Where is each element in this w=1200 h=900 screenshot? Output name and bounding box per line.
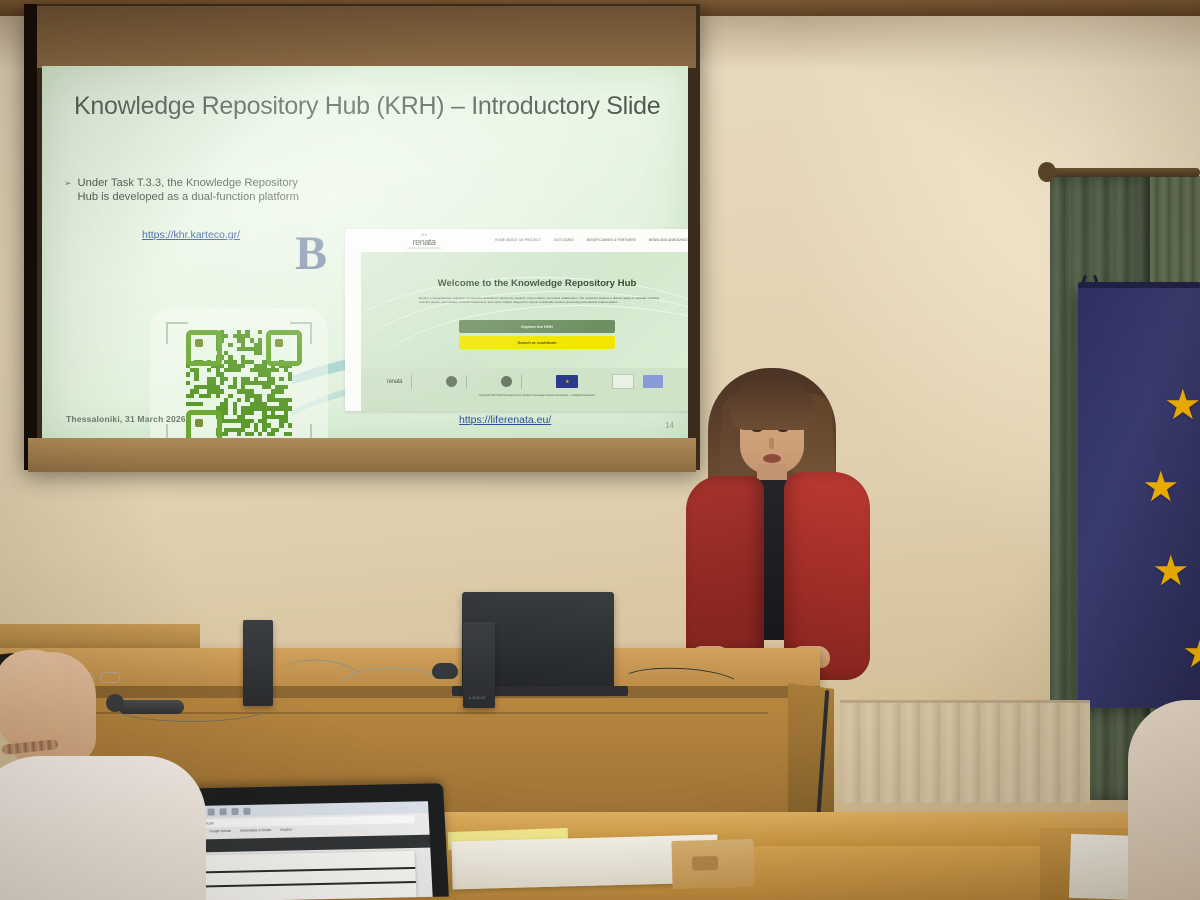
website-screenshot: life renata LIFE21-ENV-GR-RENATA HOME AB… [345,229,688,411]
qr-finder-top-right [266,330,302,366]
logo-name: renata [407,237,441,247]
curtain-rod-knob [1038,162,1056,182]
presenter-nose [769,438,774,449]
presentation-room-photo: Knowledge Repository Hub (KRH) – Introdu… [0,0,1200,900]
computer-mouse[interactable] [432,663,458,679]
slide-watermark-letter: B [295,226,327,281]
flag-star-1: ★ [1164,384,1200,426]
flag-star-2: ★ [1142,466,1180,508]
qr-bracket-bottom-right [290,424,312,438]
footer-divider-2 [466,375,467,389]
european-union-flag: ★ ★ ★ ★ [1078,288,1200,708]
nav-item-3[interactable]: NEWS AND ANNOUNCEMENTS [649,238,688,242]
logo-subtitle: LIFE21-ENV-GR-RENATA [407,247,441,250]
clipboard-handle-hole [692,856,718,871]
projection-screen-bottom-band [28,438,696,472]
projected-slide: Knowledge Repository Hub (KRH) – Introdu… [42,66,688,438]
explore-krh-button[interactable]: Explore the KRH [459,320,615,333]
website-logo: life renata LIFE21-ENV-GR-RENATA [407,233,441,250]
website-hero: Welcome to the Knowledge Repository Hub … [361,252,688,368]
slide-footer-text: Thessaloniki, 31 March 2026 [66,414,186,424]
website-footer: renata Copyright 2024 Web Development by… [361,368,688,411]
slide-bullet-text: Under Task T.3.3, the Knowledge Reposito… [78,176,314,204]
curtain-rod [1040,168,1200,177]
slide-title: Knowledge Repository Hub (KRH) – Introdu… [74,92,674,121]
projection-screen-top-band [28,6,696,68]
qr-bracket-top-left [166,322,188,344]
qr-finder-top-left [186,330,222,366]
audience-member-right [1128,700,1200,900]
footer-logo-partner-c [612,374,634,389]
website-hero-heading: Welcome to the Knowledge Repository Hub [361,278,688,289]
slide-link-khr[interactable]: https://khr.karteco.gr/ [142,229,240,241]
website-hero-paragraph: Explore a comprehensive collection of re… [419,296,659,305]
speaker-right: LOGIC [463,622,495,708]
microphone-base [118,700,184,714]
audience-member-left [0,756,206,900]
footer-divider-3 [521,375,522,389]
flag-star-4: ★ [1182,632,1200,674]
microphone-head-icon [106,694,124,712]
slide-bullet: ➢ Under Task T.3.3, the Knowledge Reposi… [64,176,314,204]
speaker-left [243,620,273,706]
footer-logo-partner-b [501,376,512,387]
profile-icon[interactable] [243,807,250,814]
footer-divider-1 [411,375,412,389]
website-nav-items[interactable]: HOME ABOUT US PROJECT OUTCOMES BENEFICIA… [495,238,688,242]
slide-link-liferenata[interactable]: https://liferenata.eu/ [459,414,551,426]
search-contribute-button[interactable]: Search or contribute [459,336,615,349]
clipboard [671,839,754,889]
footer-logo-partner-a [446,376,457,387]
bookmark-6[interactable]: Dropbox [280,828,292,832]
projection-screen-left-edge [24,4,37,470]
bullet-arrow-icon: ➢ [64,176,72,190]
speaker-brand-label: LOGIC [469,695,486,700]
footer-eu-flag-icon [556,375,578,388]
tab-icon-5[interactable] [208,808,215,815]
footer-logo-renata: renata [387,379,402,385]
presenter-mouth [763,454,781,463]
extensions-icon[interactable] [231,808,238,815]
website-footer-logos: renata [387,374,663,389]
bookmark-4[interactable]: Google Scholar [209,829,231,833]
nav-item-1[interactable]: OUTCOMES [554,238,574,242]
flag-star-3: ★ [1152,550,1190,592]
qr-bracket-bottom-left [166,424,188,438]
nav-item-0[interactable]: HOME ABOUT US PROJECT [495,238,541,242]
tab-icon-6[interactable] [220,808,227,815]
qr-finder-bottom-left [186,410,222,438]
wall-radiator [840,700,1090,803]
nav-item-2[interactable]: BENEFICIARIES & PARTNERS [587,238,636,242]
bookmark-5[interactable]: Deliverables & Details [240,828,271,833]
website-footer-copyright: Copyright 2024 Web Development by Kartec… [361,394,688,398]
